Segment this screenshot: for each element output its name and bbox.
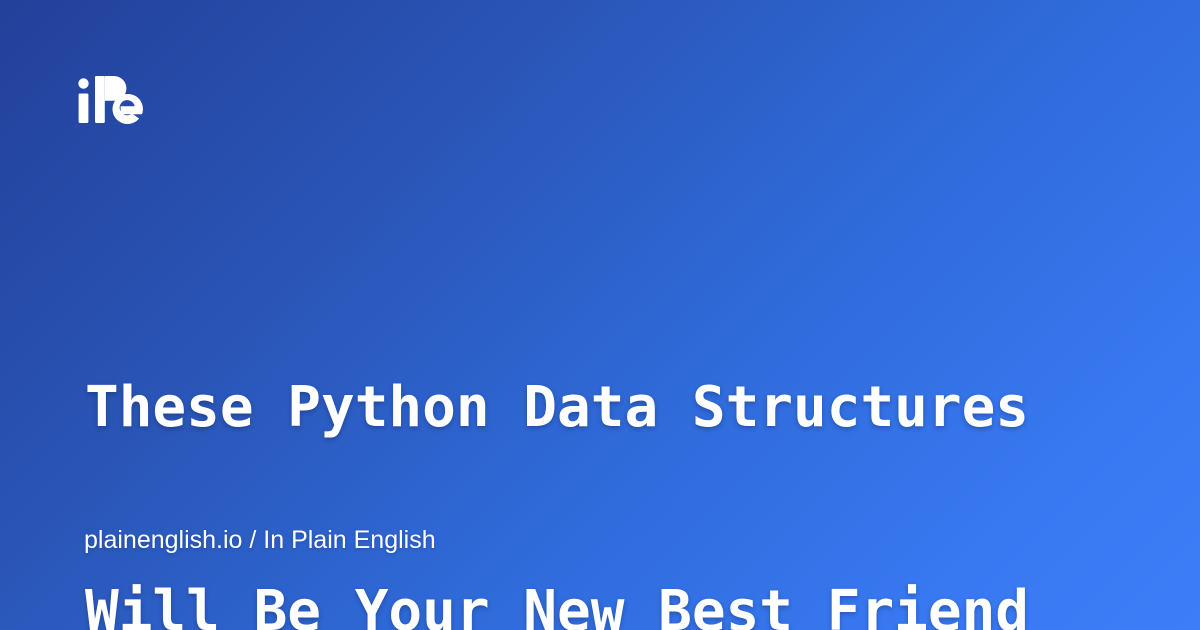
page-title: These Python Data Structures Will Be You…	[85, 238, 1125, 630]
headline-line-1: These Python Data Structures	[85, 374, 1125, 442]
og-share-card: These Python Data Structures Will Be You…	[0, 0, 1200, 630]
ipe-logo-icon	[76, 72, 146, 128]
headline-line-2: Will Be Your New Best Friend	[85, 578, 1125, 630]
attribution-text: plainenglish.io / In Plain English	[84, 524, 436, 556]
